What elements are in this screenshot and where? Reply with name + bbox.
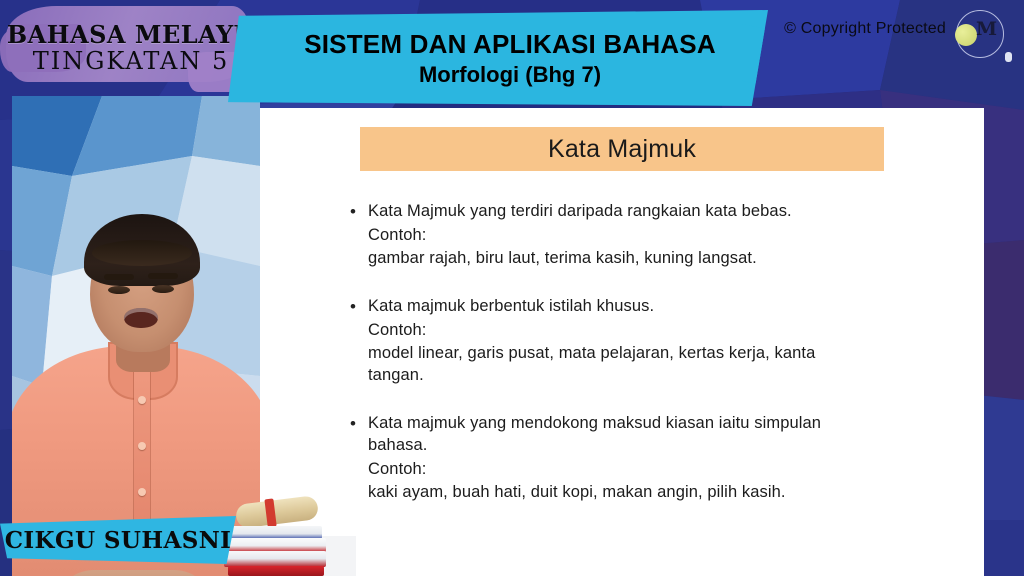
list-item-body: Kata Majmuk yang terdiri daripada rangka… [368,200,910,269]
brand-level-label: TINGKATAN 5 [33,49,230,74]
list-item-example-label: Contoh: [368,319,910,341]
list-item-example-label: Contoh: [368,224,910,246]
book-item [224,551,326,567]
list-item: • Kata Majmuk yang terdiri daripada rang… [350,200,910,269]
copyright-notice: © Copyright Protected [784,20,946,38]
diploma-scroll-icon [235,495,319,529]
bullet-list: • Kata Majmuk yang terdiri daripada rang… [350,200,910,503]
presenter-eyebrow [104,274,134,280]
slide-canvas: BAHASA MELAYU TINGKATAN 5 SISTEM DAN APL… [0,0,1024,576]
channel-logo-icon: M [954,8,1006,60]
books-illustration [222,492,334,576]
list-item-example-label: Contoh: [368,458,910,480]
shirt-button [138,488,146,496]
list-item-examples: gambar rajah, biru laut, terima kasih, k… [368,247,910,269]
scroll-ribbon [264,498,276,527]
bullet-point-icon: • [350,295,368,386]
book-item [222,538,326,552]
page-title: SISTEM DAN APLIKASI BAHASA [304,30,716,60]
brand-subject-label: BAHASA MELAYU [7,22,255,47]
list-item-examples: kaki ayam, buah hati, duit kopi, makan a… [368,481,910,503]
logo-glyph: M [976,20,996,39]
list-item: • Kata majmuk berbentuk istilah khusus. … [350,295,910,386]
list-item-examples: model linear, garis pusat, mata pelajara… [368,342,910,364]
bullet-point-icon: • [350,412,368,503]
slide-title-text: Kata Majmuk [548,135,696,164]
slide-title-box: Kata Majmuk [360,127,884,171]
list-item: • Kata majmuk yang mendokong maksud kias… [350,412,910,503]
logo-dot [955,24,977,46]
list-item-body: Kata majmuk berbentuk istilah khusus. Co… [368,295,910,386]
presenter-name-banner: CIKGU SUHASNI [0,516,236,564]
header-title-group: SISTEM DAN APLIKASI BAHASA Morfologi (Bh… [250,22,770,96]
presenter-eyebrow [148,273,178,279]
list-item-lead-cont: bahasa. [368,434,910,456]
presenter-mouth [124,308,158,328]
slide-content-panel: Kata Majmuk • Kata Majmuk yang terdiri d… [260,108,984,576]
list-item-body: Kata majmuk yang mendokong maksud kiasan… [368,412,910,503]
list-item-examples-cont: tangan. [368,364,910,386]
list-item-lead: Kata Majmuk yang terdiri daripada rangka… [368,200,910,222]
shirt-button [138,396,146,404]
page-subtitle: Morfologi (Bhg 7) [419,62,601,88]
list-item-lead: Kata majmuk berbentuk istilah khusus. [368,295,910,317]
brand-text-group: BAHASA MELAYU TINGKATAN 5 [0,0,262,96]
presenter-name-text: CIKGU SUHASNI [5,527,232,554]
course-brand-badge: BAHASA MELAYU TINGKATAN 5 [0,0,262,96]
list-item-lead: Kata majmuk yang mendokong maksud kiasan… [368,412,910,434]
book-item [228,566,324,576]
bullet-point-icon: • [350,200,368,269]
presenter-eye [108,286,130,294]
presenter-eye [152,285,174,293]
logo-pip [1005,52,1012,62]
shirt-button [138,442,146,450]
